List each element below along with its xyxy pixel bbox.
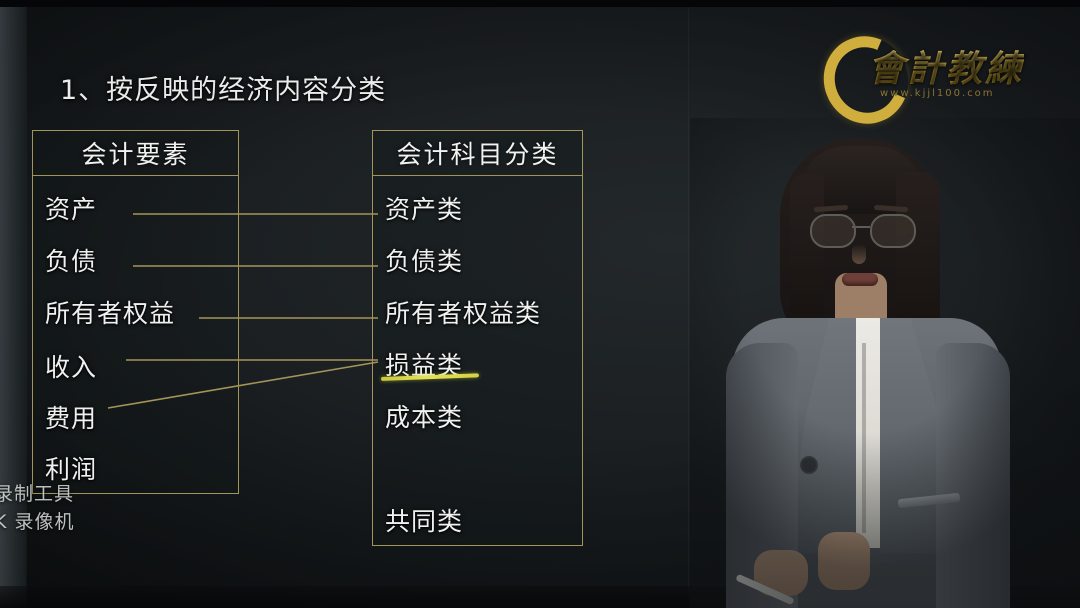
left-row-expense: 费用 [45,399,97,435]
presenter [690,118,1080,608]
right-row-common: 共同类 [385,502,463,538]
video-frame: 1、按反映的经济内容分类 会计要素 资产 负债 所有者权益 收入 费用 利润 会… [0,0,1080,608]
presenter-edge-shading [690,118,1080,608]
recorder-watermark-line1: 录制工具 [0,480,75,508]
left-row-liability: 负债 [45,242,97,278]
right-row-cost: 成本类 [385,398,463,434]
letterbox-top [0,0,1080,7]
recorder-watermark: 录制工具 K 录像机 [0,480,75,536]
background-seam-right [688,7,689,608]
recorder-watermark-line2: K 录像机 [0,508,75,536]
accounting-elements-table: 会计要素 资产 负债 所有者权益 收入 费用 利润 [32,130,239,494]
logo-text: 會計教練 [868,40,1024,92]
logo-url: www.kjjl100.com [880,88,995,99]
accounting-elements-header: 会计要素 [33,131,238,176]
right-row-asset: 资产类 [385,190,463,226]
right-row-liability: 负债类 [385,242,463,278]
left-row-revenue: 收入 [45,348,97,384]
left-row-asset: 资产 [45,190,97,226]
right-row-equity: 所有者权益类 [385,294,541,330]
slide-title: 1、按反映的经济内容分类 [60,68,386,107]
left-row-equity: 所有者权益 [45,294,175,330]
account-categories-table: 会计科目分类 资产类 负债类 所有者权益类 损益类 成本类 共同类 [372,130,583,546]
brand-logo: 會計教練 www.kjjl100.com [822,34,1022,108]
account-categories-header: 会计科目分类 [373,131,582,176]
